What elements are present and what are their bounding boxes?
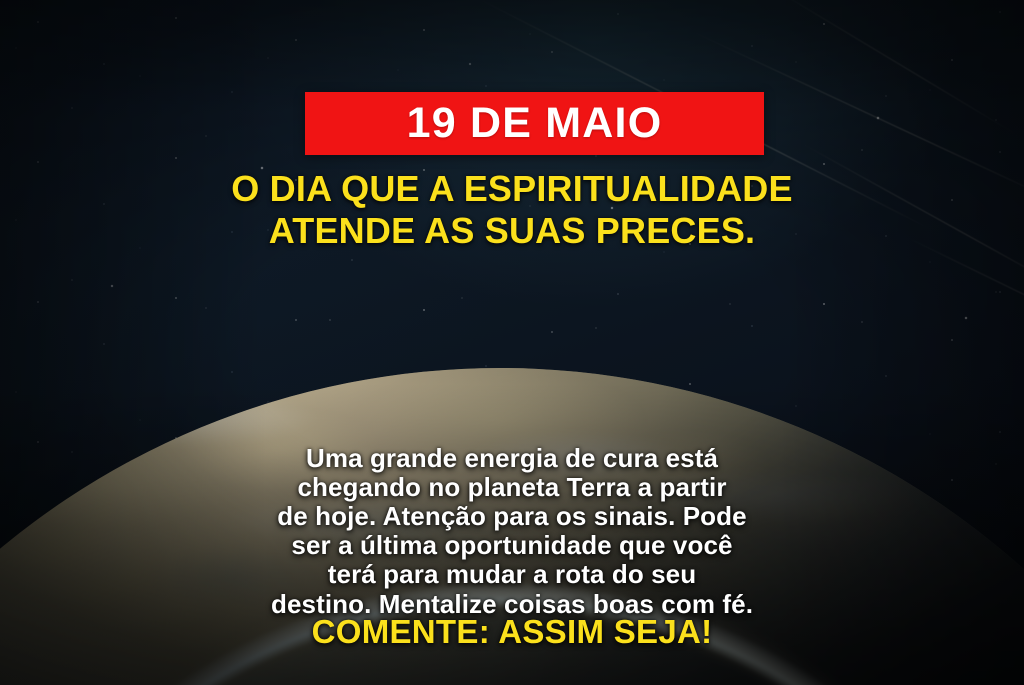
body-copy-line-2: chegando no planeta Terra a partir xyxy=(0,473,1024,502)
poster: 19 DE MAIO O DIA QUE A ESPIRITUALIDADE A… xyxy=(0,0,1024,685)
headline-line-2: ATENDE AS SUAS PRECES. xyxy=(0,210,1024,252)
body-copy-line-1: Uma grande energia de cura está xyxy=(0,444,1024,473)
body-copy-line-3: de hoje. Atenção para os sinais. Pode xyxy=(0,502,1024,531)
headline-line-1: O DIA QUE A ESPIRITUALIDADE xyxy=(0,168,1024,210)
body-copy: Uma grande energia de cura está chegando… xyxy=(0,444,1024,619)
call-to-action-label: COMENTE: ASSIM SEJA! xyxy=(0,614,1024,650)
poster-content: 19 DE MAIO O DIA QUE A ESPIRITUALIDADE A… xyxy=(0,0,1024,685)
body-copy-line-5: terá para mudar a rota do seu xyxy=(0,560,1024,589)
date-badge-label: 19 DE MAIO xyxy=(407,102,663,145)
headline: O DIA QUE A ESPIRITUALIDADE ATENDE AS SU… xyxy=(0,168,1024,252)
body-copy-line-4: ser a última oportunidade que você xyxy=(0,531,1024,560)
date-badge: 19 DE MAIO xyxy=(305,92,764,155)
